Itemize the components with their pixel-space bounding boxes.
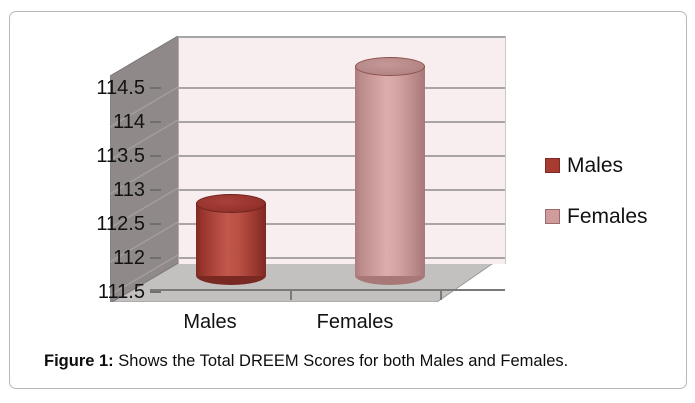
- y-tick-label-5: 112: [45, 248, 145, 268]
- bar-females[interactable]: [355, 57, 425, 285]
- legend-item-females[interactable]: Females: [545, 206, 685, 227]
- x-tick-mark-1: [440, 289, 442, 300]
- y-tick-label-0: 114.5: [45, 78, 145, 98]
- gridline-113: [179, 189, 505, 191]
- gridline-114-5: [179, 87, 505, 89]
- figure-caption-label: Figure 1:: [44, 352, 114, 370]
- y-tick-mark-2: [150, 155, 161, 157]
- x-axis-line: [150, 289, 505, 291]
- x-tick-label-females: Females: [295, 312, 415, 332]
- legend: Males Females: [545, 155, 685, 257]
- y-tick-mark-0: [150, 87, 161, 89]
- figure-container: 114.5 114 113.5 113 112.5 112 111.5 Male…: [0, 0, 695, 403]
- legend-item-males[interactable]: Males: [545, 155, 685, 176]
- y-tick-mark-5: [150, 257, 161, 259]
- gridline-113-5: [179, 155, 505, 157]
- legend-label-males: Males: [567, 155, 623, 176]
- bar-males[interactable]: [196, 194, 266, 285]
- bar-females-cap: [355, 57, 425, 76]
- y-tick-label-2: 113.5: [45, 146, 145, 166]
- y-tick-mark-1: [150, 121, 161, 123]
- y-tick-label-6: 111.5: [45, 282, 145, 302]
- legend-swatch-males-icon: [545, 158, 560, 173]
- y-tick-label-3: 113: [45, 180, 145, 200]
- bar-males-body: [196, 203, 266, 276]
- legend-swatch-females-icon: [545, 209, 560, 224]
- legend-label-females: Females: [567, 206, 648, 227]
- y-tick-label-1: 114: [45, 112, 145, 132]
- gridline-114: [179, 121, 505, 123]
- bar-males-cap: [196, 194, 266, 213]
- figure-caption: Figure 1: Shows the Total DREEM Scores f…: [44, 352, 654, 371]
- y-tick-mark-3: [150, 189, 161, 191]
- y-tick-label-4: 112.5: [45, 214, 145, 234]
- figure-caption-text: Shows the Total DREEM Scores for both Ma…: [114, 352, 569, 370]
- x-tick-mark-0: [290, 289, 292, 300]
- y-tick-mark-6: [150, 291, 161, 293]
- y-tick-mark-4: [150, 223, 161, 225]
- x-tick-label-males: Males: [150, 312, 270, 332]
- bar-females-body: [355, 66, 425, 276]
